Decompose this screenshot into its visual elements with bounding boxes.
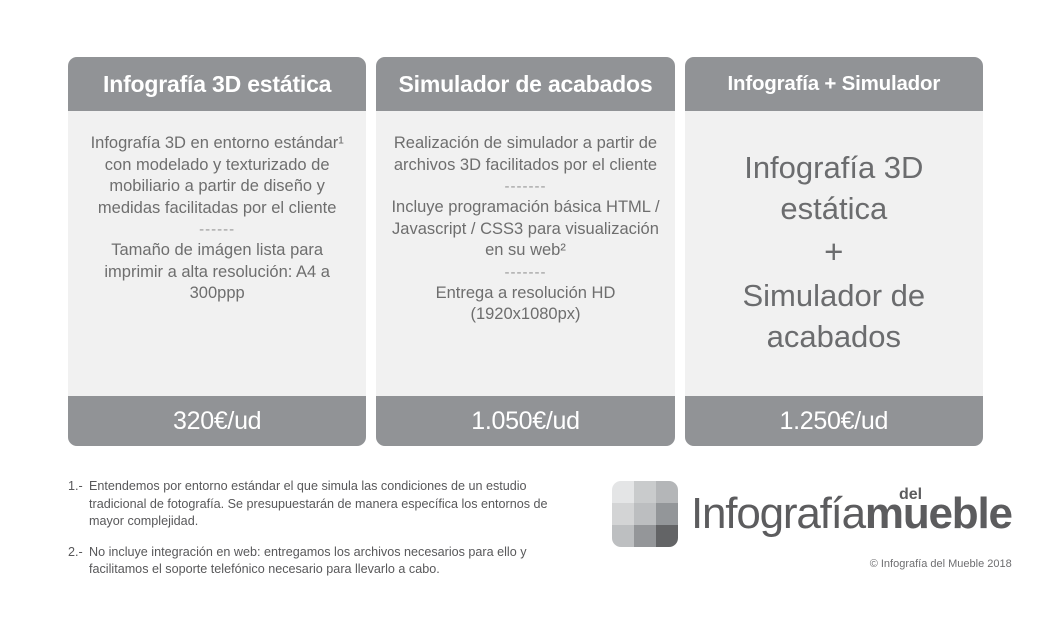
- logo-tile: [656, 503, 678, 525]
- logo-word-line: Infografíamueble: [691, 490, 1012, 538]
- card-header-title: Infografía 3D estática: [68, 57, 366, 111]
- card-body-separator: -------: [505, 262, 547, 283]
- pricing-card-infografia-3d-estatica[interactable]: Infografía 3D estática Infografía 3D en …: [68, 57, 366, 446]
- footnote-item: 2.- No incluye integración en web: entre…: [68, 544, 548, 579]
- footnote-item: 1.- Entendemos por entorno estándar el q…: [68, 478, 548, 531]
- card-body-separator: ------: [199, 219, 235, 240]
- card-body-line: Infografía 3D en entorno estándar¹ con m…: [82, 133, 352, 219]
- pricing-card-infografia-mas-simulador[interactable]: Infografía + Simulador Infografía 3D est…: [685, 57, 983, 446]
- card-body: Infografía 3D estática + Simulador de ac…: [685, 111, 983, 396]
- logo-row: Infografíamueble del © Infografía del Mu…: [612, 481, 984, 547]
- logo-superscript-del: del: [899, 487, 922, 503]
- logo-tile: [634, 503, 656, 525]
- logo-tile: [612, 481, 634, 503]
- logo-word-infografia: Infogra: [691, 489, 820, 538]
- card-body-line: Tamaño de imágen lista para imprimir a a…: [82, 240, 352, 305]
- logo-tile: [656, 525, 678, 547]
- copyright-text: © Infografía del Mueble 2018: [870, 558, 1012, 570]
- card-body-line: Incluye programación básica HTML / Javas…: [390, 197, 660, 262]
- footnote-number: 2.-: [68, 544, 89, 579]
- card-body-line: Realización de simulador a partir de arc…: [390, 133, 660, 176]
- logo-tile: [656, 481, 678, 503]
- card-price[interactable]: 1.050€/ud: [376, 396, 674, 446]
- card-price[interactable]: 1.250€/ud: [685, 396, 983, 446]
- logo-tile: [634, 525, 656, 547]
- logo-tile: [612, 503, 634, 525]
- card-price[interactable]: 320€/ud: [68, 396, 366, 446]
- logo-word-infografia-tail: fía: [820, 489, 865, 538]
- card-body-line: Simulador de acabados: [699, 275, 969, 357]
- footnote-text: Entendemos por entorno estándar el que s…: [89, 478, 548, 531]
- card-body-line: Entrega a resolución HD (1920x1080px): [390, 283, 660, 326]
- card-body: Infografía 3D en entorno estándar¹ con m…: [68, 111, 366, 396]
- logo-word-mueble: mueble: [865, 489, 1012, 538]
- pricing-card-simulador-de-acabados[interactable]: Simulador de acabados Realización de sim…: [376, 57, 674, 446]
- pricing-table: Infografía 3D estática Infografía 3D en …: [68, 57, 983, 446]
- grid-squares-icon: [612, 481, 678, 547]
- logo-tile: [612, 525, 634, 547]
- logo-tile: [634, 481, 656, 503]
- plus-sign: +: [824, 229, 843, 275]
- footnotes: 1.- Entendemos por entorno estándar el q…: [68, 478, 548, 592]
- brand-logo: Infografíamueble del © Infografía del Mu…: [612, 481, 984, 561]
- card-header-title: Simulador de acabados: [376, 57, 674, 111]
- card-body: Realización de simulador a partir de arc…: [376, 111, 674, 396]
- card-body-separator: -------: [505, 176, 547, 197]
- footnote-number: 1.-: [68, 478, 89, 531]
- card-body-line: Infografía 3D estática: [699, 147, 969, 229]
- logo-wordmark: Infografíamueble del © Infografía del Mu…: [691, 490, 1012, 538]
- footnote-text: No incluye integración en web: entregamo…: [89, 544, 548, 579]
- card-header-title: Infografía + Simulador: [685, 57, 983, 111]
